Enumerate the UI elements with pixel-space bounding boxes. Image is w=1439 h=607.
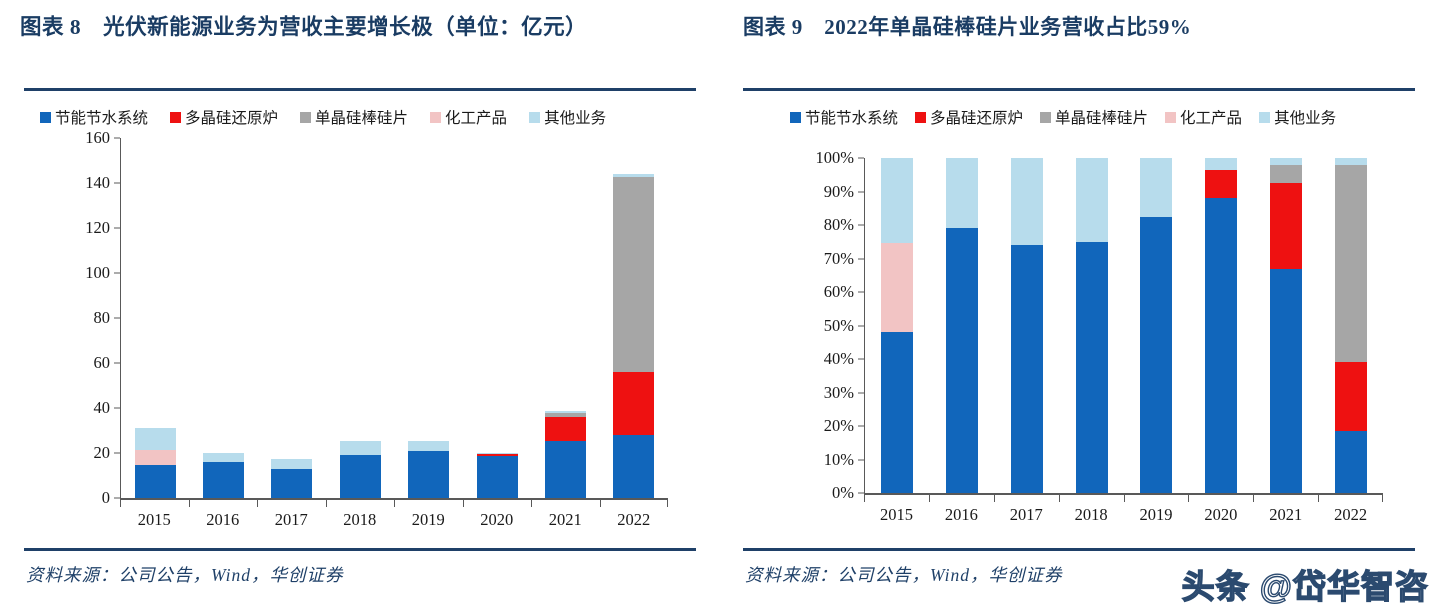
bar-group <box>258 138 326 498</box>
y-axis-tick-label: 0 <box>102 488 110 508</box>
stacked-bar <box>545 138 586 498</box>
x-axis-label: 2017 <box>257 510 326 530</box>
figure-8-top-divider <box>24 88 696 91</box>
bar-segment <box>1011 245 1043 493</box>
figure-9-legend: 节能节水系统多晶硅还原炉单晶硅棒硅片化工产品其他业务 <box>790 106 1353 128</box>
figure-8-source-note: 资料来源：公司公告，Wind，华创证券 <box>26 562 343 587</box>
bar-segment <box>1205 158 1237 170</box>
bar-segment <box>1076 158 1108 242</box>
x-axis-label: 2016 <box>189 510 258 530</box>
watermark-text: 头条 @岱华智咨 <box>1182 570 1429 603</box>
x-axis-tick-mark <box>1124 495 1189 502</box>
y-axis-tick-label: 60 <box>94 353 111 373</box>
y-axis-tick-label: 70% <box>824 249 854 269</box>
legend-item-label: 其他业务 <box>544 106 606 128</box>
bar-group <box>1124 158 1189 493</box>
stacked-bar <box>1140 158 1172 493</box>
x-axis-tick-mark <box>1318 495 1383 502</box>
x-axis-tick-mark <box>600 500 669 507</box>
bar-segment <box>203 453 244 462</box>
bar-segment <box>613 435 654 498</box>
figure-8-bars <box>121 138 668 498</box>
bar-segment <box>203 462 244 498</box>
figure-8-x-axis-labels: 20152016201720182019202020212022 <box>120 510 668 530</box>
bar-group <box>1318 158 1383 493</box>
stacked-bar <box>1011 158 1043 493</box>
legend-item-label: 单晶硅棒硅片 <box>1055 106 1148 128</box>
y-axis-tick-label: 40% <box>824 349 854 369</box>
bar-segment <box>1205 198 1237 493</box>
x-axis-label: 2015 <box>864 505 929 525</box>
square-swatch-icon <box>40 112 51 123</box>
y-axis-tick-label: 140 <box>85 173 110 193</box>
x-axis-tick-mark <box>1188 495 1253 502</box>
x-axis-tick-mark <box>1059 495 1124 502</box>
bar-segment <box>613 372 654 435</box>
bar-group <box>995 158 1060 493</box>
bar-segment <box>1335 362 1367 431</box>
legend-item-label: 节能节水系统 <box>55 106 148 128</box>
x-axis-label: 2019 <box>394 510 463 530</box>
bar-segment <box>1335 165 1367 363</box>
stacked-bar <box>477 138 518 498</box>
bar-segment <box>408 441 449 451</box>
square-swatch-icon <box>170 112 181 123</box>
x-axis-tick-mark <box>929 495 994 502</box>
bar-segment <box>1270 269 1302 493</box>
y-axis-tick-label: 100 <box>85 263 110 283</box>
y-axis-tick-label: 30% <box>824 383 854 403</box>
bar-group <box>1189 158 1254 493</box>
figure-9-plot: 0%10%20%30%40%50%60%70%80%90%100% 201520… <box>798 158 1383 503</box>
bar-segment <box>271 469 312 498</box>
x-axis-tick-mark <box>326 500 395 507</box>
bar-segment <box>946 158 978 228</box>
figure-9-source-note: 资料来源：公司公告，Wind，华创证券 <box>745 562 1062 587</box>
y-axis-tick-label: 60% <box>824 282 854 302</box>
bar-segment <box>1270 165 1302 183</box>
bar-group <box>189 138 257 498</box>
figure-9-top-divider <box>743 88 1415 91</box>
x-axis-tick-mark <box>257 500 326 507</box>
bar-segment <box>1335 431 1367 493</box>
stacked-bar <box>881 158 913 493</box>
bar-segment <box>1205 170 1237 198</box>
legend-item-label: 多晶硅还原炉 <box>930 106 1023 128</box>
bar-group <box>930 158 995 493</box>
y-axis-tick-label: 20% <box>824 416 854 436</box>
figure-8-legend: 节能节水系统多晶硅还原炉单晶硅棒硅片化工产品其他业务 <box>40 106 628 128</box>
legend-item: 化工产品 <box>1165 106 1242 128</box>
x-axis-tick-mark <box>394 500 463 507</box>
x-axis-label: 2019 <box>1124 505 1189 525</box>
stacked-bar <box>408 138 449 498</box>
y-axis-tick-label: 80 <box>94 308 111 328</box>
stacked-bar <box>271 138 312 498</box>
stacked-bar <box>340 138 381 498</box>
x-axis-label: 2021 <box>1253 505 1318 525</box>
legend-item-label: 单晶硅棒硅片 <box>315 106 408 128</box>
x-axis-label: 2021 <box>531 510 600 530</box>
legend-item: 节能节水系统 <box>790 106 898 128</box>
x-axis-label: 2022 <box>1318 505 1383 525</box>
bar-segment <box>135 450 176 466</box>
x-axis-label: 2020 <box>1188 505 1253 525</box>
bar-segment <box>881 158 913 243</box>
figure-8-title: 图表 8 光伏新能源业务为营收主要增长极（单位：亿元） <box>20 10 699 44</box>
x-axis-label: 2022 <box>600 510 669 530</box>
bar-segment <box>613 177 654 372</box>
x-axis-tick-mark <box>531 500 600 507</box>
square-swatch-icon <box>790 112 801 123</box>
figure-8-plot: 020406080100120140160 201520162017201820… <box>68 138 668 508</box>
y-axis-tick-label: 80% <box>824 215 854 235</box>
figure-9-x-tick-marks <box>864 495 1383 502</box>
stacked-bar <box>1076 158 1108 493</box>
figure-8-panel: 图表 8 光伏新能源业务为营收主要增长极（单位：亿元） 节能节水系统多晶硅还原炉… <box>0 0 719 607</box>
x-axis-tick-mark <box>864 495 929 502</box>
bar-segment <box>477 456 518 498</box>
x-axis-label: 2018 <box>1059 505 1124 525</box>
bar-segment <box>135 428 176 449</box>
x-axis-label: 2016 <box>929 505 994 525</box>
bar-group <box>865 158 930 493</box>
bar-group <box>531 138 599 498</box>
square-swatch-icon <box>1040 112 1051 123</box>
bar-segment <box>1140 158 1172 217</box>
legend-item-label: 节能节水系统 <box>805 106 898 128</box>
bar-group <box>326 138 394 498</box>
x-axis-tick-mark <box>189 500 258 507</box>
legend-item: 其他业务 <box>1259 106 1336 128</box>
legend-item: 单晶硅棒硅片 <box>300 106 408 128</box>
bar-segment <box>1335 158 1367 165</box>
stacked-bar <box>613 138 654 498</box>
y-axis-tick-label: 160 <box>85 128 110 148</box>
legend-item-label: 化工产品 <box>1180 106 1242 128</box>
stacked-bar <box>1270 158 1302 493</box>
y-axis-tick-label: 120 <box>85 218 110 238</box>
figure-page: 图表 8 光伏新能源业务为营收主要增长极（单位：亿元） 节能节水系统多晶硅还原炉… <box>0 0 1439 607</box>
y-axis-tick-label: 50% <box>824 316 854 336</box>
bar-segment <box>1270 183 1302 268</box>
bar-segment <box>1270 158 1302 165</box>
x-axis-tick-mark <box>463 500 532 507</box>
bar-group <box>600 138 668 498</box>
square-swatch-icon <box>430 112 441 123</box>
legend-item: 单晶硅棒硅片 <box>1040 106 1148 128</box>
bar-segment <box>545 417 586 441</box>
bar-segment <box>340 455 381 498</box>
bar-segment <box>135 465 176 498</box>
y-axis-tick-label: 10% <box>824 450 854 470</box>
x-axis-label: 2017 <box>994 505 1059 525</box>
bar-segment <box>340 441 381 456</box>
figure-9-x-axis-labels: 20152016201720182019202020212022 <box>864 505 1383 525</box>
figure-8-x-tick-marks <box>120 500 668 507</box>
legend-item: 节能节水系统 <box>40 106 148 128</box>
x-axis-tick-mark <box>994 495 1059 502</box>
bar-segment <box>408 451 449 498</box>
square-swatch-icon <box>915 112 926 123</box>
legend-item-label: 其他业务 <box>1274 106 1336 128</box>
bar-segment <box>271 459 312 469</box>
bar-group <box>395 138 463 498</box>
bar-segment <box>1011 158 1043 245</box>
legend-item: 多晶硅还原炉 <box>915 106 1023 128</box>
stacked-bar <box>1335 158 1367 493</box>
stacked-bar <box>203 138 244 498</box>
square-swatch-icon <box>1165 112 1176 123</box>
square-swatch-icon <box>529 112 540 123</box>
figure-8-bottom-divider <box>24 548 696 551</box>
figure-9-bottom-divider <box>743 548 1415 551</box>
bar-segment <box>881 243 913 332</box>
stacked-bar <box>1205 158 1237 493</box>
legend-item: 化工产品 <box>430 106 507 128</box>
y-axis-tick-label: 100% <box>816 148 855 168</box>
stacked-bar <box>946 158 978 493</box>
x-axis-tick-mark <box>1253 495 1318 502</box>
figure-9-bars <box>865 158 1383 493</box>
bar-segment <box>1140 217 1172 493</box>
bar-segment <box>545 441 586 498</box>
legend-item: 其他业务 <box>529 106 606 128</box>
bar-segment <box>1076 242 1108 493</box>
bar-segment <box>881 332 913 493</box>
y-axis-tick-label: 20 <box>94 443 111 463</box>
square-swatch-icon <box>300 112 311 123</box>
bar-segment <box>946 228 978 493</box>
legend-item: 多晶硅还原炉 <box>170 106 278 128</box>
y-axis-tick-label: 0% <box>832 483 854 503</box>
bar-group <box>1059 158 1124 493</box>
x-axis-label: 2015 <box>120 510 189 530</box>
bar-group <box>121 138 189 498</box>
y-axis-tick-label: 90% <box>824 182 854 202</box>
x-axis-tick-mark <box>120 500 189 507</box>
stacked-bar <box>135 138 176 498</box>
legend-item-label: 化工产品 <box>445 106 507 128</box>
legend-item-label: 多晶硅还原炉 <box>185 106 278 128</box>
bar-group <box>1254 158 1319 493</box>
y-axis-tick-label: 40 <box>94 398 111 418</box>
square-swatch-icon <box>1259 112 1270 123</box>
figure-9-title: 图表 9 2022年单晶硅棒硅片业务营收占比59% <box>743 10 1419 44</box>
bar-group <box>463 138 531 498</box>
x-axis-label: 2020 <box>463 510 532 530</box>
x-axis-label: 2018 <box>326 510 395 530</box>
